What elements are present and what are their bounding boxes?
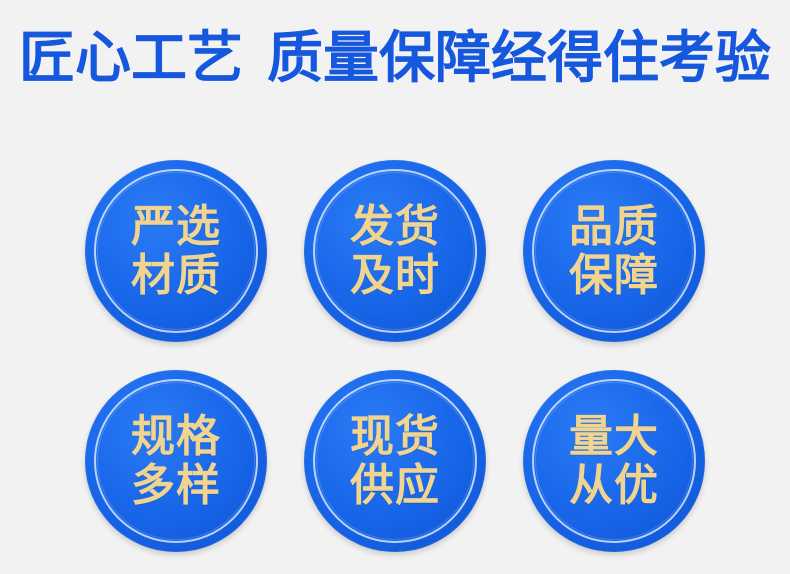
badge-label: 现货供应	[336, 412, 454, 510]
headline-part-2: 质量保障经得住考验	[267, 26, 771, 91]
badge-label-line-1: 发货	[350, 201, 440, 252]
badge-various-specifications[interactable]: 规格多样	[85, 370, 267, 552]
badge-timely-shipment[interactable]: 发货及时	[304, 160, 486, 342]
badge-label: 规格多样	[117, 412, 235, 510]
badge-label: 严选材质	[117, 202, 235, 300]
badge-label-line-1: 规格	[131, 411, 221, 462]
badge-label: 量大从优	[555, 412, 673, 510]
badge-row-1: 严选材质 发货及时 品质保障	[0, 160, 790, 346]
badge-label-line-2: 保障	[569, 250, 659, 301]
badge-label-line-1: 量大	[569, 411, 659, 462]
badge-label-line-2: 材质	[131, 250, 221, 301]
badge-label: 品质保障	[555, 202, 673, 300]
page-title: 匠心工艺质量保障经得住考验	[0, 26, 790, 92]
badge-label-line-2: 多样	[131, 460, 221, 511]
feature-badge-grid: 严选材质 发货及时 品质保障 规格多样 现货供应	[0, 160, 790, 560]
badge-quality-guarantee[interactable]: 品质保障	[523, 160, 705, 342]
badge-in-stock-supply[interactable]: 现货供应	[304, 370, 486, 552]
headline-part-1: 匠心工艺	[19, 26, 243, 91]
promo-banner: 匠心工艺质量保障经得住考验 严选材质 发货及时 品质保障	[0, 0, 790, 574]
badge-label-line-1: 品质	[569, 201, 659, 252]
badge-label-line-2: 及时	[350, 250, 440, 301]
badge-strict-material-selection[interactable]: 严选材质	[85, 160, 267, 342]
badge-label-line-2: 供应	[350, 460, 440, 511]
badge-label: 发货及时	[336, 202, 454, 300]
badge-label-line-2: 从优	[569, 460, 659, 511]
badge-row-2: 规格多样 现货供应 量大从优	[0, 370, 790, 556]
badge-label-line-1: 现货	[350, 411, 440, 462]
badge-label-line-1: 严选	[131, 201, 221, 252]
badge-bulk-discount[interactable]: 量大从优	[523, 370, 705, 552]
